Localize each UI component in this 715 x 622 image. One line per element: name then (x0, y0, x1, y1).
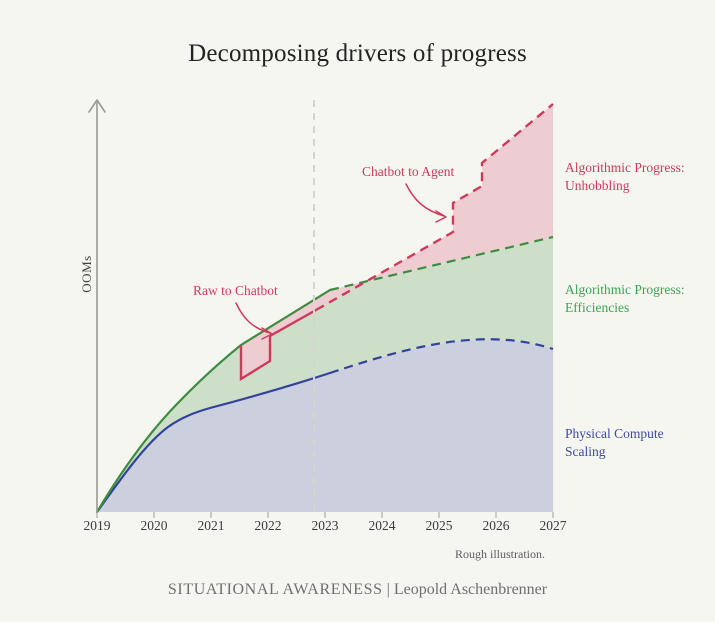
footer: SITUATIONAL AWARENESS | Leopold Aschenbr… (0, 581, 715, 599)
annotation-chatbot-to-agent: Chatbot to Agent (362, 164, 454, 180)
series-label-algorithmic-efficiencies: Algorithmic Progress: Efficiencies (565, 281, 685, 317)
x-tick-2025: 2025 (409, 518, 469, 534)
x-tick-2023: 2023 (295, 518, 355, 534)
x-tick-2026: 2026 (466, 518, 526, 534)
annotation-arrow-chatbot-to-agent (406, 184, 446, 222)
x-tick-2020: 2020 (124, 518, 184, 534)
footer-separator: | (383, 581, 394, 598)
x-tick-2019: 2019 (67, 518, 127, 534)
x-tick-2022: 2022 (238, 518, 298, 534)
rough-illustration-note: Rough illustration. (455, 547, 545, 562)
chart-root: Decomposing drivers of progress (0, 0, 715, 622)
footer-brand: SITUATIONAL AWARENESS (168, 581, 383, 598)
x-tick-2027: 2027 (523, 518, 583, 534)
series-label-algorithmic-unhobbling: Algorithmic Progress: Unhobbling (565, 159, 685, 195)
x-tick-2021: 2021 (181, 518, 241, 534)
annotation-raw-to-chatbot: Raw to Chatbot (193, 283, 278, 299)
x-tick-2024: 2024 (352, 518, 412, 534)
series-label-physical-compute-scaling: Physical Compute Scaling (565, 425, 664, 461)
y-axis-label: OOMs (79, 239, 95, 309)
footer-author: Leopold Aschenbrenner (394, 581, 547, 598)
